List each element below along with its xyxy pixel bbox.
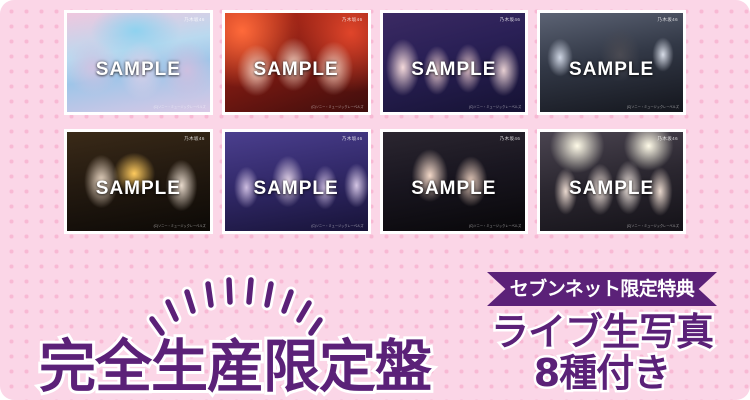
promo-block: セブンネット限定特典 ライブ生写真 8種付き xyxy=(468,272,736,394)
photo-artwork xyxy=(67,13,210,112)
promo-line-2: 8種付き xyxy=(468,353,736,394)
photo-credit: (C)ソニー・ミュージックレーベルズ xyxy=(627,223,679,228)
photo-artwork xyxy=(225,13,368,112)
photo-artwork xyxy=(383,13,526,112)
photo-frame: 乃木坂46 SAMPLE (C)ソニー・ミュージックレーベルズ xyxy=(225,13,368,112)
group-logo-icon: 乃木坂46 xyxy=(342,17,363,23)
group-logo-icon: 乃木坂46 xyxy=(500,17,521,23)
photo-frame: 乃木坂46 SAMPLE (C)ソニー・ミュージックレーベルズ xyxy=(225,132,368,231)
group-logo-icon: 乃木坂46 xyxy=(184,136,205,142)
photo-credit: (C)ソニー・ミュージックレーベルズ xyxy=(469,223,521,228)
headline-block: 完全生産限定盤 xyxy=(0,275,470,396)
group-logo-icon: 乃木坂46 xyxy=(342,136,363,142)
photo-thumbnail[interactable]: 乃木坂46 SAMPLE (C)ソニー・ミュージックレーベルズ xyxy=(537,10,686,115)
photo-artwork xyxy=(540,132,683,231)
photo-artwork xyxy=(540,13,683,112)
photo-credit: (C)ソニー・ミュージックレーベルズ xyxy=(311,104,363,109)
photo-thumbnail[interactable]: 乃木坂46 SAMPLE (C)ソニー・ミュージックレーベルズ xyxy=(64,129,213,234)
photo-grid: 乃木坂46 SAMPLE (C)ソニー・ミュージックレーベルズ 乃木坂46 SA… xyxy=(64,10,686,234)
photo-credit: (C)ソニー・ミュージックレーベルズ xyxy=(469,104,521,109)
group-logo-icon: 乃木坂46 xyxy=(184,17,205,23)
photo-frame: 乃木坂46 SAMPLE (C)ソニー・ミュージックレーベルズ xyxy=(540,132,683,231)
photo-thumbnail[interactable]: 乃木坂46 SAMPLE (C)ソニー・ミュージックレーベルズ xyxy=(380,129,529,234)
sunburst-icon xyxy=(140,275,330,337)
photo-frame: 乃木坂46 SAMPLE (C)ソニー・ミュージックレーベルズ xyxy=(67,132,210,231)
photo-frame: 乃木坂46 SAMPLE (C)ソニー・ミュージックレーベルズ xyxy=(383,132,526,231)
photo-frame: 乃木坂46 SAMPLE (C)ソニー・ミュージックレーベルズ xyxy=(383,13,526,112)
photo-credit: (C)ソニー・ミュージックレーベルズ xyxy=(627,104,679,109)
group-logo-icon: 乃木坂46 xyxy=(657,136,678,142)
promo-line-1: ライブ生写真 xyxy=(468,312,736,353)
ribbon-badge: セブンネット限定特典 xyxy=(487,272,717,306)
photo-artwork xyxy=(225,132,368,231)
promo-banner: 乃木坂46 SAMPLE (C)ソニー・ミュージックレーベルズ 乃木坂46 SA… xyxy=(0,0,750,400)
photo-thumbnail[interactable]: 乃木坂46 SAMPLE (C)ソニー・ミュージックレーベルズ xyxy=(537,129,686,234)
group-logo-icon: 乃木坂46 xyxy=(657,17,678,23)
group-logo-icon: 乃木坂46 xyxy=(500,136,521,142)
photo-frame: 乃木坂46 SAMPLE (C)ソニー・ミュージックレーベルズ xyxy=(67,13,210,112)
photo-artwork xyxy=(383,132,526,231)
photo-credit: (C)ソニー・ミュージックレーベルズ xyxy=(154,104,206,109)
photo-thumbnail[interactable]: 乃木坂46 SAMPLE (C)ソニー・ミュージックレーベルズ xyxy=(64,10,213,115)
photo-frame: 乃木坂46 SAMPLE (C)ソニー・ミュージックレーベルズ xyxy=(540,13,683,112)
main-title: 完全生産限定盤 xyxy=(0,339,470,396)
photo-thumbnail[interactable]: 乃木坂46 SAMPLE (C)ソニー・ミュージックレーベルズ xyxy=(380,10,529,115)
photo-artwork xyxy=(67,132,210,231)
photo-thumbnail[interactable]: 乃木坂46 SAMPLE (C)ソニー・ミュージックレーベルズ xyxy=(222,129,371,234)
photo-thumbnail[interactable]: 乃木坂46 SAMPLE (C)ソニー・ミュージックレーベルズ xyxy=(222,10,371,115)
photo-credit: (C)ソニー・ミュージックレーベルズ xyxy=(311,223,363,228)
photo-credit: (C)ソニー・ミュージックレーベルズ xyxy=(154,223,206,228)
